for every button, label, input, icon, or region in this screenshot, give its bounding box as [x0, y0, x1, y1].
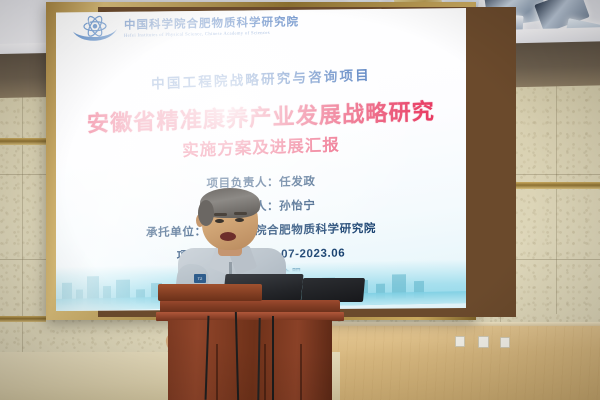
cable	[205, 316, 224, 400]
presenter-hair-side	[198, 200, 214, 226]
lectern-shelf	[158, 284, 262, 301]
institute-logo-block: 科 中国科学院合肥物质科学研究院 Hefei Institutes of Phy…	[72, 9, 299, 47]
brass-trim	[0, 316, 46, 322]
tile-seam	[22, 54, 23, 400]
lectern	[160, 300, 340, 400]
cable	[272, 316, 274, 400]
wall-outlet	[478, 336, 489, 348]
monitor	[301, 278, 365, 302]
presenter-eye	[215, 219, 224, 223]
logo-org-cn: 中国科学院合肥物质科学研究院	[124, 17, 299, 32]
wall-outlet	[455, 336, 465, 347]
atom-swoosh-logo-icon: 科	[72, 13, 118, 48]
brass-trim	[0, 138, 46, 145]
logo-org-en: Hefei Institutes of Physical Science, Ch…	[124, 31, 299, 39]
wood-floor	[330, 326, 600, 400]
slide-program-line: 中国工程院战略研究与咨询项目	[56, 60, 466, 96]
wall-outlet	[500, 337, 510, 348]
svg-text:科: 科	[87, 19, 91, 24]
presenter-eye	[235, 218, 244, 222]
presenter-brow	[214, 213, 227, 216]
photo-scene: 科 中国科学院合肥物质科学研究院 Hefei Institutes of Phy…	[0, 0, 600, 400]
presenter-brow	[234, 212, 247, 215]
presenter-badge: T2	[194, 274, 206, 283]
presenter-mouth	[220, 232, 236, 241]
lectern-body	[168, 320, 332, 400]
